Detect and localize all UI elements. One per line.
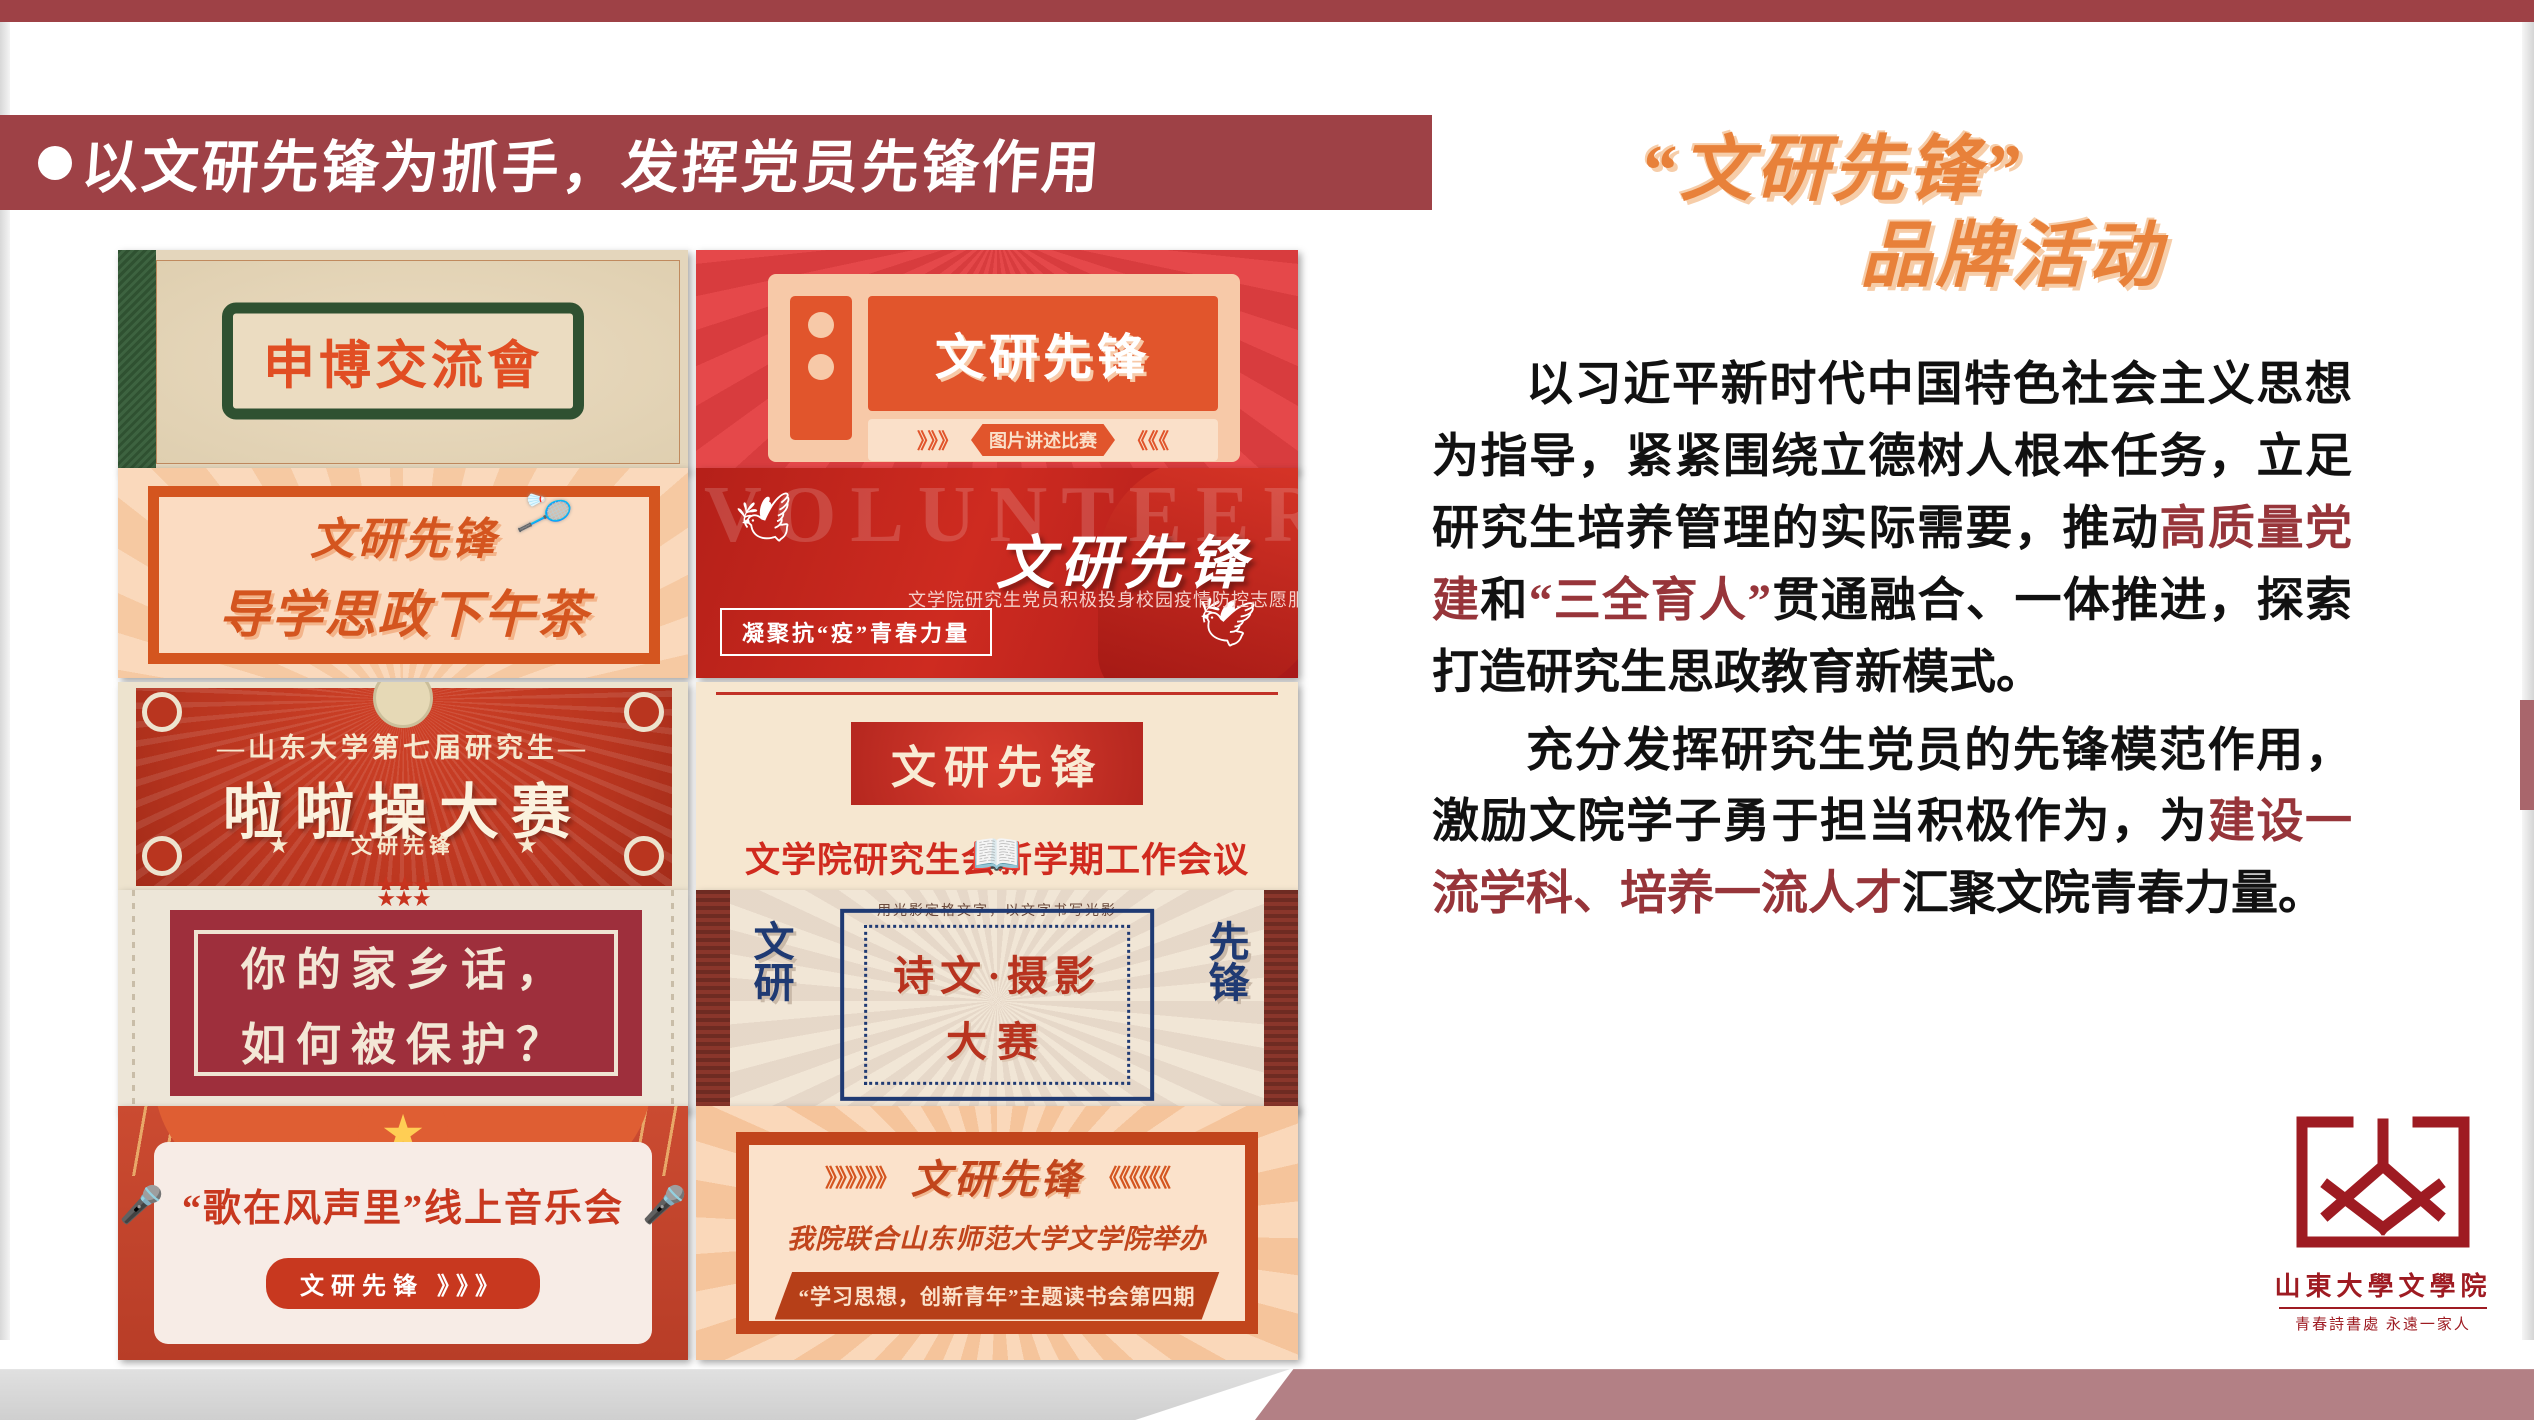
left-border-strip (696, 890, 730, 1112)
afternoon-tea-line1: 文研先锋 (310, 503, 498, 567)
poster-card-afternoon-tea[interactable]: 文研先锋 导学思政下午茶 🏸 (118, 468, 688, 678)
mic-icon: 🎤 (119, 1184, 164, 1226)
body-copy: 以习近平新时代中国特色社会主义思想为指导，紧紧围绕立德树人根本任务，立足研究生培… (1432, 350, 2352, 937)
poetry-center-line2: 大赛 (946, 1008, 1048, 1068)
tv-frame: 文研先锋 》》》 图片讲述比赛 《《《 (768, 274, 1240, 462)
tv-screen: 文研先锋 (868, 296, 1218, 411)
medal-decoration: ★★★ (376, 890, 429, 912)
poetry-center-box: 诗文·摄影 大赛 (840, 909, 1154, 1101)
brand-heading-line2: 品牌活动 (1860, 196, 2164, 301)
logo-seal-icon (2288, 1110, 2478, 1260)
right-edge-decoration (2522, 22, 2534, 1340)
mic-icon: 🎤 (642, 1184, 687, 1226)
cheer-line3: 文研先锋 (118, 830, 688, 860)
concert-title: “歌在风声里”线上音乐会 (182, 1177, 624, 1232)
picture-contest-subtitle-row: 》》》 图片讲述比赛 《《《 (868, 419, 1218, 461)
top-decoration-bar (0, 0, 2534, 22)
volunteer-tag: 凝聚抗“疫”青春力量 (720, 608, 992, 656)
dialect-line2: 如何被保护？ (241, 1008, 571, 1073)
concert-panel: 🎤 “歌在风声里”线上音乐会 🎤 文研先锋 》》》 (154, 1142, 652, 1344)
p2-seg-b: 汇聚文院青春力量。 (1902, 868, 2325, 920)
poster-card-new-term-meeting[interactable]: 文研先锋 文学院研究生会新学期工作会议 📖 (696, 682, 1298, 890)
afternoon-tea-box: 文研先锋 导学思政下午茶 (148, 486, 660, 664)
poster-card-volunteer[interactable]: VOLUNTEER 🕊 🕊 文研先锋 文学院研究生党员积极投身校园疫情防控志愿服… (696, 468, 1298, 678)
green-texture-strip (118, 250, 156, 472)
dialect-box: 你的家乡话， 如何被保护？ (170, 910, 642, 1096)
dotted-line-decoration (671, 890, 674, 1112)
poster-card-shenbo[interactable]: 申博交流會 (118, 250, 688, 472)
poster-card-cheerleading[interactable]: —山东大学第七届研究生— 啦啦操大赛 ★ 文研先锋 ★ ★★★ (118, 682, 688, 890)
bottom-gray-shape (0, 1358, 1290, 1420)
dialect-line1: 你的家乡话， (241, 933, 571, 998)
shenbo-title: 申博交流會 (263, 339, 543, 396)
right-accent-tab (2520, 700, 2534, 810)
p1-highlight-2: “三全育人” (1529, 575, 1771, 627)
poetry-center-line1: 诗文·摄影 (893, 942, 1101, 1002)
reading-club-line3: “学习思想，创新青年”主题读书会第四期 (775, 1272, 1220, 1320)
arrow-left-icon: 《《《《《《 (1097, 1158, 1169, 1193)
paragraph-2: 充分发挥研究生党员的先锋模范作用，激励文院学子勇于担当积极作为，为建设一流学科、… (1432, 716, 2352, 932)
meeting-badge: 文研先锋 (851, 722, 1143, 805)
tv-knob-icon (808, 354, 834, 380)
left-edge-decoration (0, 22, 10, 1340)
slide-root: 以文研先锋为抓手，发挥党员先锋作用 申博交流會 文研先锋 》》》 (0, 0, 2534, 1420)
arrow-right-icon: 》》》》》》 (825, 1158, 897, 1193)
poster-card-picture-contest[interactable]: 文研先锋 》》》 图片讲述比赛 《《《 (696, 250, 1298, 472)
cheer-line1: —山东大学第七届研究生— (118, 726, 688, 765)
tv-knob-icon (808, 312, 834, 338)
tv-side-panel (790, 296, 852, 440)
dotted-line-decoration (132, 890, 135, 1112)
open-book-icon: 📖 (696, 831, 1298, 880)
brand-heading: “文研先锋” 品牌活动 (1520, 110, 2470, 300)
ribbon-decoration: ★★★ (375, 871, 431, 890)
section-title-banner: 以文研先锋为抓手，发挥党员先锋作用 (0, 115, 1432, 210)
arrow-left-icon: 《《《 (1127, 425, 1169, 455)
picture-contest-subtitle: 图片讲述比赛 (971, 424, 1115, 456)
reading-club-box: 》》》》》》 文研先锋 《《《《《《 我院联合山东师范大学文学院举办 “学习思想… (736, 1132, 1258, 1334)
right-border-strip (1264, 890, 1298, 1112)
bottom-decoration (0, 1344, 2534, 1420)
dialect-inner: 你的家乡话， 如何被保护？ (194, 930, 617, 1076)
afternoon-tea-line2: 导学思政下午茶 (218, 573, 589, 647)
p1-seg-b: 和 (1480, 575, 1528, 627)
poster-gallery: 申博交流會 文研先锋 》》》 图片讲述比赛 《《《 (118, 250, 1298, 1360)
logo-name: 山東大學文學院 (2258, 1266, 2508, 1303)
concert-title-row: 🎤 “歌在风声里”线上音乐会 🎤 (119, 1177, 687, 1232)
reading-club-title: 文研先锋 (911, 1147, 1083, 1205)
poetry-right-vertical: 先锋 (1203, 920, 1246, 1002)
picture-contest-title: 文研先锋 (935, 318, 1151, 389)
poster-card-online-concert[interactable]: ★ 🎤 “歌在风声里”线上音乐会 🎤 文研先锋 》》》 (118, 1106, 688, 1360)
arrow-right-icon: 》》》 (917, 425, 959, 455)
reading-club-line2: 我院联合山东师范大学文学院举办 (787, 1217, 1207, 1256)
reading-club-title-row: 》》》》》》 文研先锋 《《《《《《 (825, 1147, 1169, 1205)
college-logo: 山東大學文學院 青春詩書處 永遠一家人 (2258, 1110, 2508, 1334)
meeting-badge-text: 文研先锋 (891, 743, 1103, 793)
poster-card-poetry-photo[interactable]: 用光影定格文字，以文字书写光影 文研 先锋 诗文·摄影 大赛 (696, 890, 1298, 1112)
star-icon: ★ (516, 831, 538, 860)
poetry-left-vertical: 文研 (748, 920, 791, 1002)
poster-card-dialect[interactable]: ★★★ 你的家乡话， 如何被保护？ (118, 890, 688, 1112)
shenbo-title-box: 申博交流會 (222, 303, 584, 420)
bottom-red-shape (1255, 1358, 2534, 1420)
concert-button[interactable]: 文研先锋 》》》 (266, 1258, 540, 1309)
section-title-text: 以文研先锋为抓手，发挥党员先锋作用 (79, 122, 1105, 204)
paragraph-1: 以习近平新时代中国特色社会主义思想为指导，紧紧围绕立德树人根本任务，立足研究生培… (1432, 350, 2352, 710)
logo-divider (2279, 1307, 2487, 1309)
poetry-center-inner: 诗文·摄影 大赛 (864, 925, 1130, 1085)
divider (716, 692, 1278, 695)
bullet-dot-icon (38, 146, 72, 180)
poster-card-reading-club[interactable]: 》》》》》》 文研先锋 《《《《《《 我院联合山东师范大学文学院举办 “学习思想… (696, 1106, 1298, 1360)
logo-slogan: 青春詩書處 永遠一家人 (2258, 1313, 2508, 1334)
